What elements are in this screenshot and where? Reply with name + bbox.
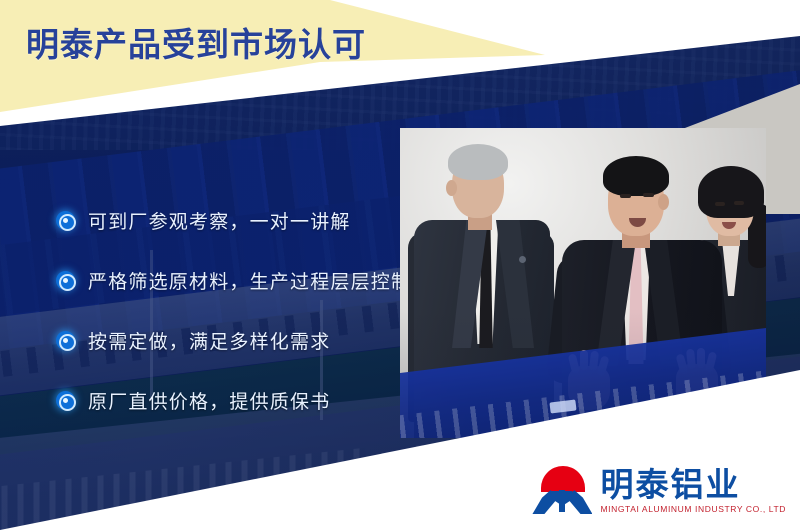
mingtai-sun-mountain-mark	[532, 466, 592, 514]
bullseye-icon	[56, 211, 75, 230]
list-item: 原厂直供价格，提供质保书	[56, 386, 411, 414]
logo-name-en: MINGTAI ALUMINUM INDUSTRY CO., LTD	[600, 504, 786, 514]
bullseye-icon	[56, 331, 75, 350]
red-sun-icon	[541, 466, 585, 492]
promo-banner: 明泰产品受到市场认可 可到厂参观考察，一对一讲解 严格筛选原材料，生产过程层层控…	[0, 0, 800, 530]
list-item: 严格筛选原材料，生产过程层层控制	[56, 266, 411, 294]
feature-text: 可到厂参观考察，一对一讲解	[88, 207, 351, 234]
feature-text: 按需定做，满足多样化需求	[88, 327, 330, 354]
company-logo[interactable]: 明泰铝业 MINGTAI ALUMINUM INDUSTRY CO., LTD	[532, 466, 786, 514]
mountain-crossbar	[552, 491, 572, 496]
feature-text: 原厂直供价格，提供质保书	[88, 387, 330, 414]
list-item: 可到厂参观考察，一对一讲解	[56, 206, 411, 234]
list-item: 按需定做，满足多样化需求	[56, 326, 411, 354]
bullseye-icon	[56, 391, 75, 410]
feature-list: 可到厂参观考察，一对一讲解 严格筛选原材料，生产过程层层控制 按需定做，满足多样…	[56, 206, 411, 414]
bullseye-icon	[56, 271, 75, 290]
logo-text-block: 明泰铝业 MINGTAI ALUMINUM INDUSTRY CO., LTD	[600, 468, 786, 514]
page-title: 明泰产品受到市场认可	[26, 26, 366, 65]
feature-text: 严格筛选原材料，生产过程层层控制	[88, 267, 411, 294]
logo-name-cn: 明泰铝业	[600, 468, 740, 502]
